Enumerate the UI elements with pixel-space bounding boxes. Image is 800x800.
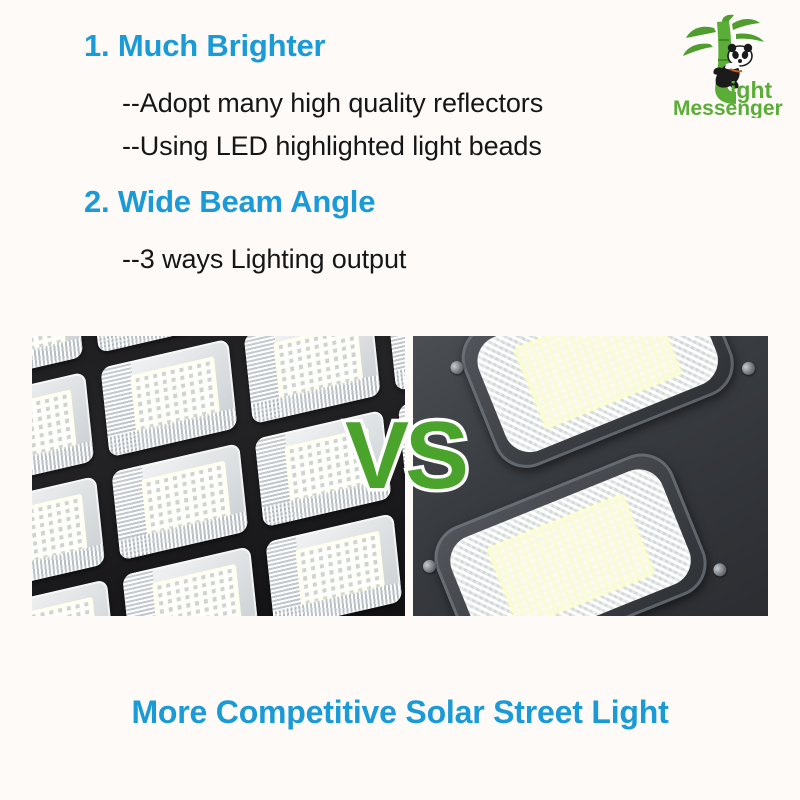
screw-icon: [740, 360, 757, 377]
led-module: [265, 513, 402, 616]
screw-icon: [711, 561, 728, 578]
light-messenger-logo: ight Messenger: [670, 14, 788, 118]
led-module: [387, 336, 405, 391]
product-photo-right: [413, 336, 768, 616]
feature-bullet-1-2: --Using LED highlighted light beads: [122, 131, 542, 162]
promo-page: ight Messenger 1. Much Brighter --Adopt …: [0, 0, 800, 800]
vs-badge: VS: [345, 408, 465, 504]
large-led-module: [424, 443, 717, 616]
feature-bullet-1-1: --Adopt many high quality reflectors: [122, 88, 543, 119]
led-module: [111, 442, 248, 560]
feature-bullet-2-1: --3 ways Lighting output: [122, 244, 406, 275]
logo-word-bottom: Messenger: [673, 97, 783, 118]
led-module: [32, 579, 116, 616]
large-led-module: [451, 336, 744, 478]
led-module: [32, 372, 94, 490]
led-module: [122, 546, 259, 616]
competitor-housing: [413, 336, 768, 616]
led-module: [32, 475, 105, 593]
led-module: [100, 339, 237, 457]
feature-heading-2: 2. Wide Beam Angle: [84, 184, 375, 220]
bottom-tagline: More Competitive Solar Street Light: [0, 694, 800, 731]
feature-heading-1: 1. Much Brighter: [84, 28, 325, 64]
